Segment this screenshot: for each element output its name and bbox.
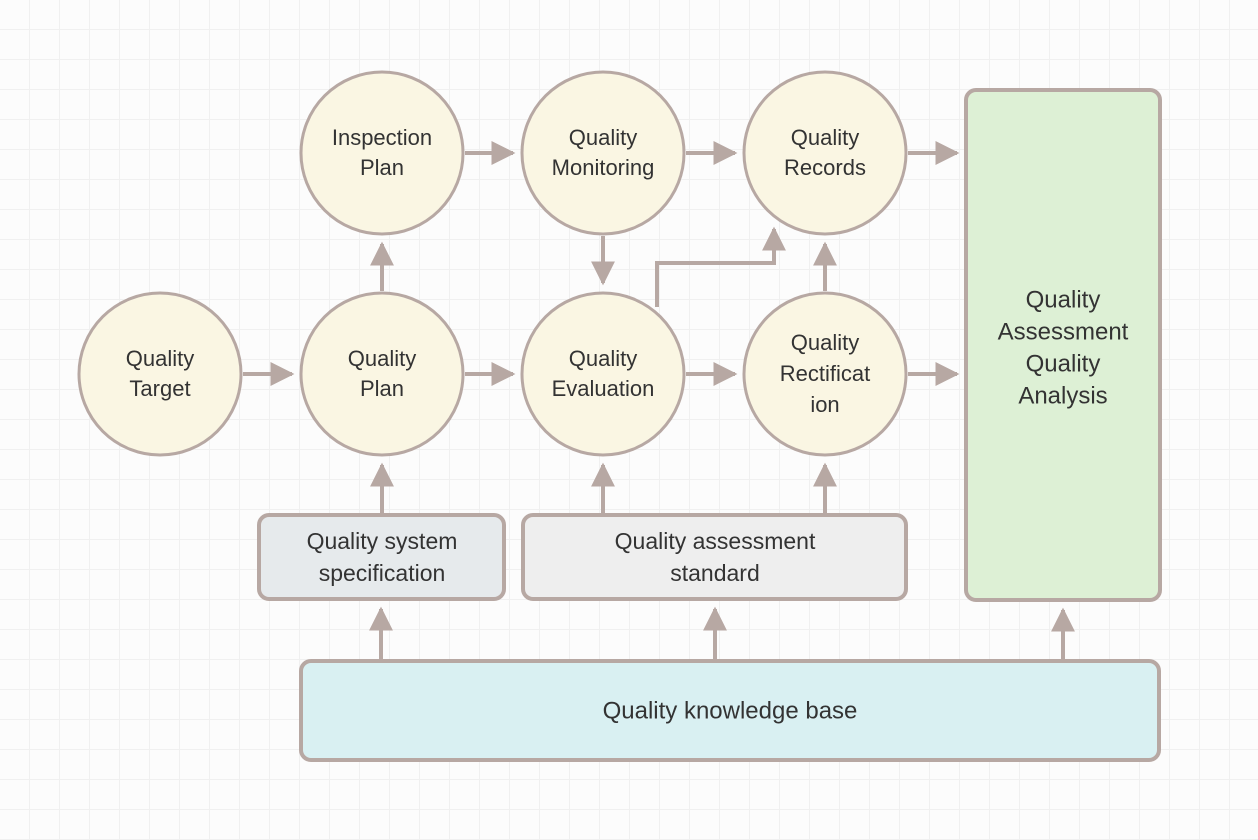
quality-plan-circle[interactable]: [301, 293, 463, 455]
assessment-analysis-label-line4: Analysis: [1018, 382, 1107, 409]
node-quality-assessment-analysis[interactable]: Quality Assessment Quality Analysis: [966, 90, 1160, 600]
edge-quality-evaluation-to-quality-records: [657, 229, 774, 307]
node-quality-rectification[interactable]: Quality Rectificat ion: [744, 293, 906, 455]
flowchart-svg: Quality Assessment Quality Analysis Qual…: [0, 0, 1258, 840]
node-inspection-plan[interactable]: Inspection Plan: [301, 72, 463, 234]
quality-evaluation-label-line2: Evaluation: [552, 376, 655, 401]
assessment-standard-label-line2: standard: [670, 560, 760, 586]
quality-target-circle[interactable]: [79, 293, 241, 455]
diagram-canvas: Quality Assessment Quality Analysis Qual…: [0, 0, 1258, 840]
node-quality-knowledge-base[interactable]: Quality knowledge base: [301, 661, 1159, 760]
system-specification-label-line1: Quality system: [307, 528, 458, 554]
quality-rectification-label-line1: Quality: [791, 330, 859, 355]
knowledge-base-label: Quality knowledge base: [603, 697, 858, 724]
node-quality-evaluation[interactable]: Quality Evaluation: [522, 293, 684, 455]
quality-plan-label-line1: Quality: [348, 346, 416, 371]
node-quality-records[interactable]: Quality Records: [744, 72, 906, 234]
quality-evaluation-label-line1: Quality: [569, 346, 637, 371]
quality-records-label-line2: Records: [784, 155, 866, 180]
assessment-analysis-label-line1: Quality: [1026, 286, 1101, 313]
quality-plan-label-line2: Plan: [360, 376, 404, 401]
node-quality-monitoring[interactable]: Quality Monitoring: [522, 72, 684, 234]
inspection-plan-circle[interactable]: [301, 72, 463, 234]
node-quality-system-specification[interactable]: Quality system specification: [259, 515, 504, 599]
quality-rectification-label-line2: Rectificat: [780, 361, 870, 386]
quality-records-label-line1: Quality: [791, 125, 859, 150]
node-quality-target[interactable]: Quality Target: [79, 293, 241, 455]
quality-records-circle[interactable]: [744, 72, 906, 234]
assessment-analysis-label-line3: Quality: [1026, 350, 1101, 377]
quality-monitoring-label-line1: Quality: [569, 125, 637, 150]
quality-evaluation-circle[interactable]: [522, 293, 684, 455]
quality-target-label-line2: Target: [129, 376, 190, 401]
assessment-analysis-label-line2: Assessment: [998, 318, 1129, 345]
assessment-standard-label-line1: Quality assessment: [615, 528, 816, 554]
quality-target-label-line1: Quality: [126, 346, 194, 371]
quality-monitoring-label-line2: Monitoring: [552, 155, 655, 180]
inspection-plan-label-line2: Plan: [360, 155, 404, 180]
quality-rectification-label-line3: ion: [810, 392, 839, 417]
node-quality-assessment-standard[interactable]: Quality assessment standard: [523, 515, 906, 599]
inspection-plan-label-line1: Inspection: [332, 125, 432, 150]
node-quality-plan[interactable]: Quality Plan: [301, 293, 463, 455]
system-specification-label-line2: specification: [319, 560, 446, 586]
quality-monitoring-circle[interactable]: [522, 72, 684, 234]
